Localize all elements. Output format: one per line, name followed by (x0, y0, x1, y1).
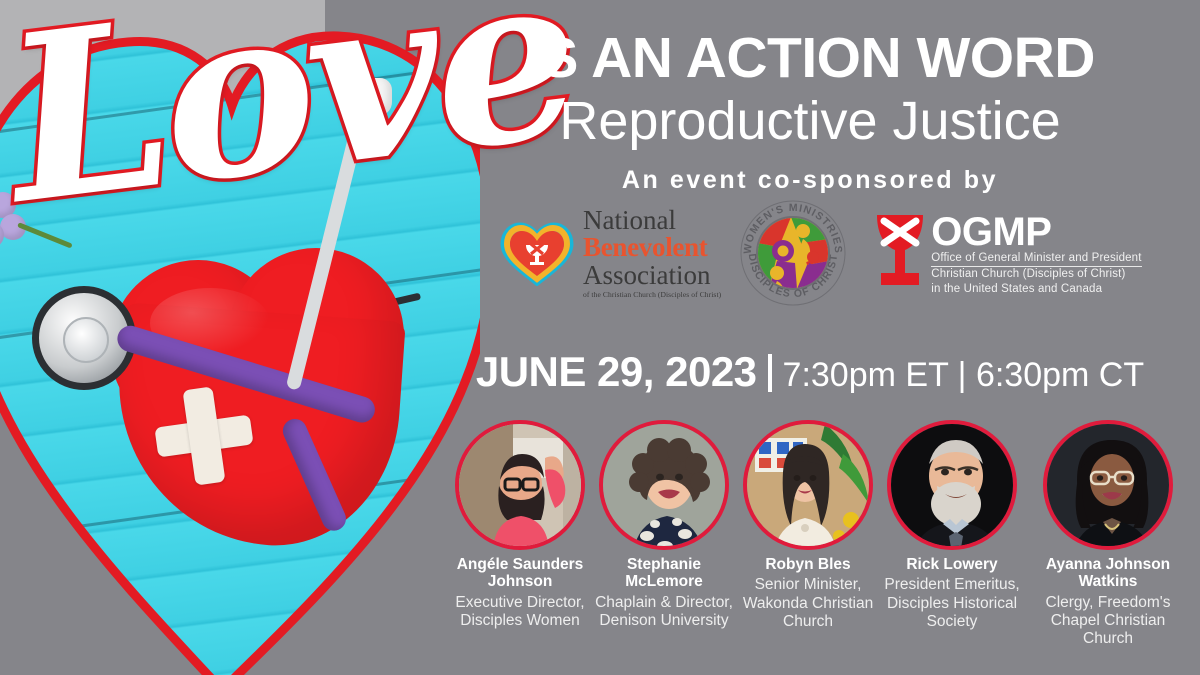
headline-line-2: Reproductive Justice (440, 93, 1180, 150)
portrait-stephanie-mclemore (599, 420, 729, 550)
red-chalice-icon (871, 211, 929, 297)
speaker-name: Angéle Saunders Johnson (448, 556, 592, 591)
mosaic-seal-icon: WOMEN'S MINISTRIES DISCIPLES OF CHRIST (739, 199, 847, 307)
event-times: 7:30pm ET | 6:30pm CT (783, 356, 1145, 394)
speaker-card: Angéle Saunders Johnson Executive Direct… (448, 420, 592, 675)
speaker-title: Executive Director, Disciples Women (448, 594, 592, 631)
nba-line-1: National (583, 207, 721, 235)
speaker-name: Ayanna Johnson Watkins (1024, 556, 1192, 591)
ogmp-subline-3: in the United States and Canada (931, 282, 1141, 296)
speaker-title: President Emeritus, Disciples Historical… (880, 576, 1024, 631)
portrait-ayanna-johnson-watkins (1043, 420, 1173, 550)
logo-ogmp: OGMP Office of General Minister and Pres… (871, 209, 1141, 297)
speaker-title: Chaplain & Director, Denison University (592, 594, 736, 631)
speaker-name: Rick Lowery (906, 556, 997, 573)
speaker-name: Stephanie McLemore (592, 556, 736, 591)
event-dateline: JUNE 29, 20237:30pm ET | 6:30pm CT (440, 348, 1180, 396)
logo-national-benevolent-association: National Benevolent Association of the C… (500, 207, 721, 299)
speaker-card: Stephanie McLemore Chaplain & Director, … (592, 420, 736, 675)
event-date: JUNE 29, 2023 (476, 348, 757, 395)
ogmp-subline-2: Christian Church (Disciples of Christ) (931, 267, 1141, 281)
portrait-robyn-bles (743, 420, 873, 550)
dateline-divider (768, 354, 772, 392)
portrait-rick-lowery (887, 420, 1017, 550)
speaker-card: Ayanna Johnson Watkins Clergy, Freedom's… (1024, 420, 1192, 675)
speaker-title: Senior Minister, Wakonda Christian Churc… (736, 576, 880, 631)
speaker-card: Robyn Bles Senior Minister, Wakonda Chri… (736, 420, 880, 675)
cosponsor-label: An event co-sponsored by (440, 166, 1180, 195)
sponsor-logo-row: National Benevolent Association of the C… (500, 198, 1200, 308)
speaker-name: Robyn Bles (765, 556, 850, 573)
nba-line-4: of the Christian Church (Disciples of Ch… (583, 291, 721, 299)
nba-line-3: Association (583, 262, 721, 290)
poster-canvas: Love IS AN ACTION WORD Reproductive Just… (0, 0, 1200, 675)
ogmp-subline-1: Office of General Minister and President (931, 251, 1141, 267)
speaker-row: Angéle Saunders Johnson Executive Direct… (440, 420, 1200, 675)
logo-womens-ministries: WOMEN'S MINISTRIES DISCIPLES OF CHRIST (739, 199, 847, 307)
nba-line-2: Benevolent (583, 234, 721, 262)
portrait-angele-saunders-johnson (455, 420, 585, 550)
love-script-word: Love (0, 0, 490, 236)
bandage-cross-icon (150, 382, 258, 490)
headline-line-1: IS AN ACTION WORD (440, 30, 1180, 87)
right-content-column: IS AN ACTION WORD Reproductive Justice A… (440, 0, 1200, 675)
speaker-title: Clergy, Freedom's Chapel Christian Churc… (1024, 594, 1192, 649)
speaker-card: Rick Lowery President Emeritus, Disciple… (880, 420, 1024, 675)
ogmp-sub1-text: Office of General Minister and President (931, 251, 1141, 267)
ogmp-acronym: OGMP (931, 213, 1141, 251)
nba-wordmark: National Benevolent Association of the C… (583, 207, 721, 299)
heart-chalice-icon (500, 220, 574, 286)
ogmp-wordmark: OGMP Office of General Minister and Pres… (931, 213, 1141, 296)
